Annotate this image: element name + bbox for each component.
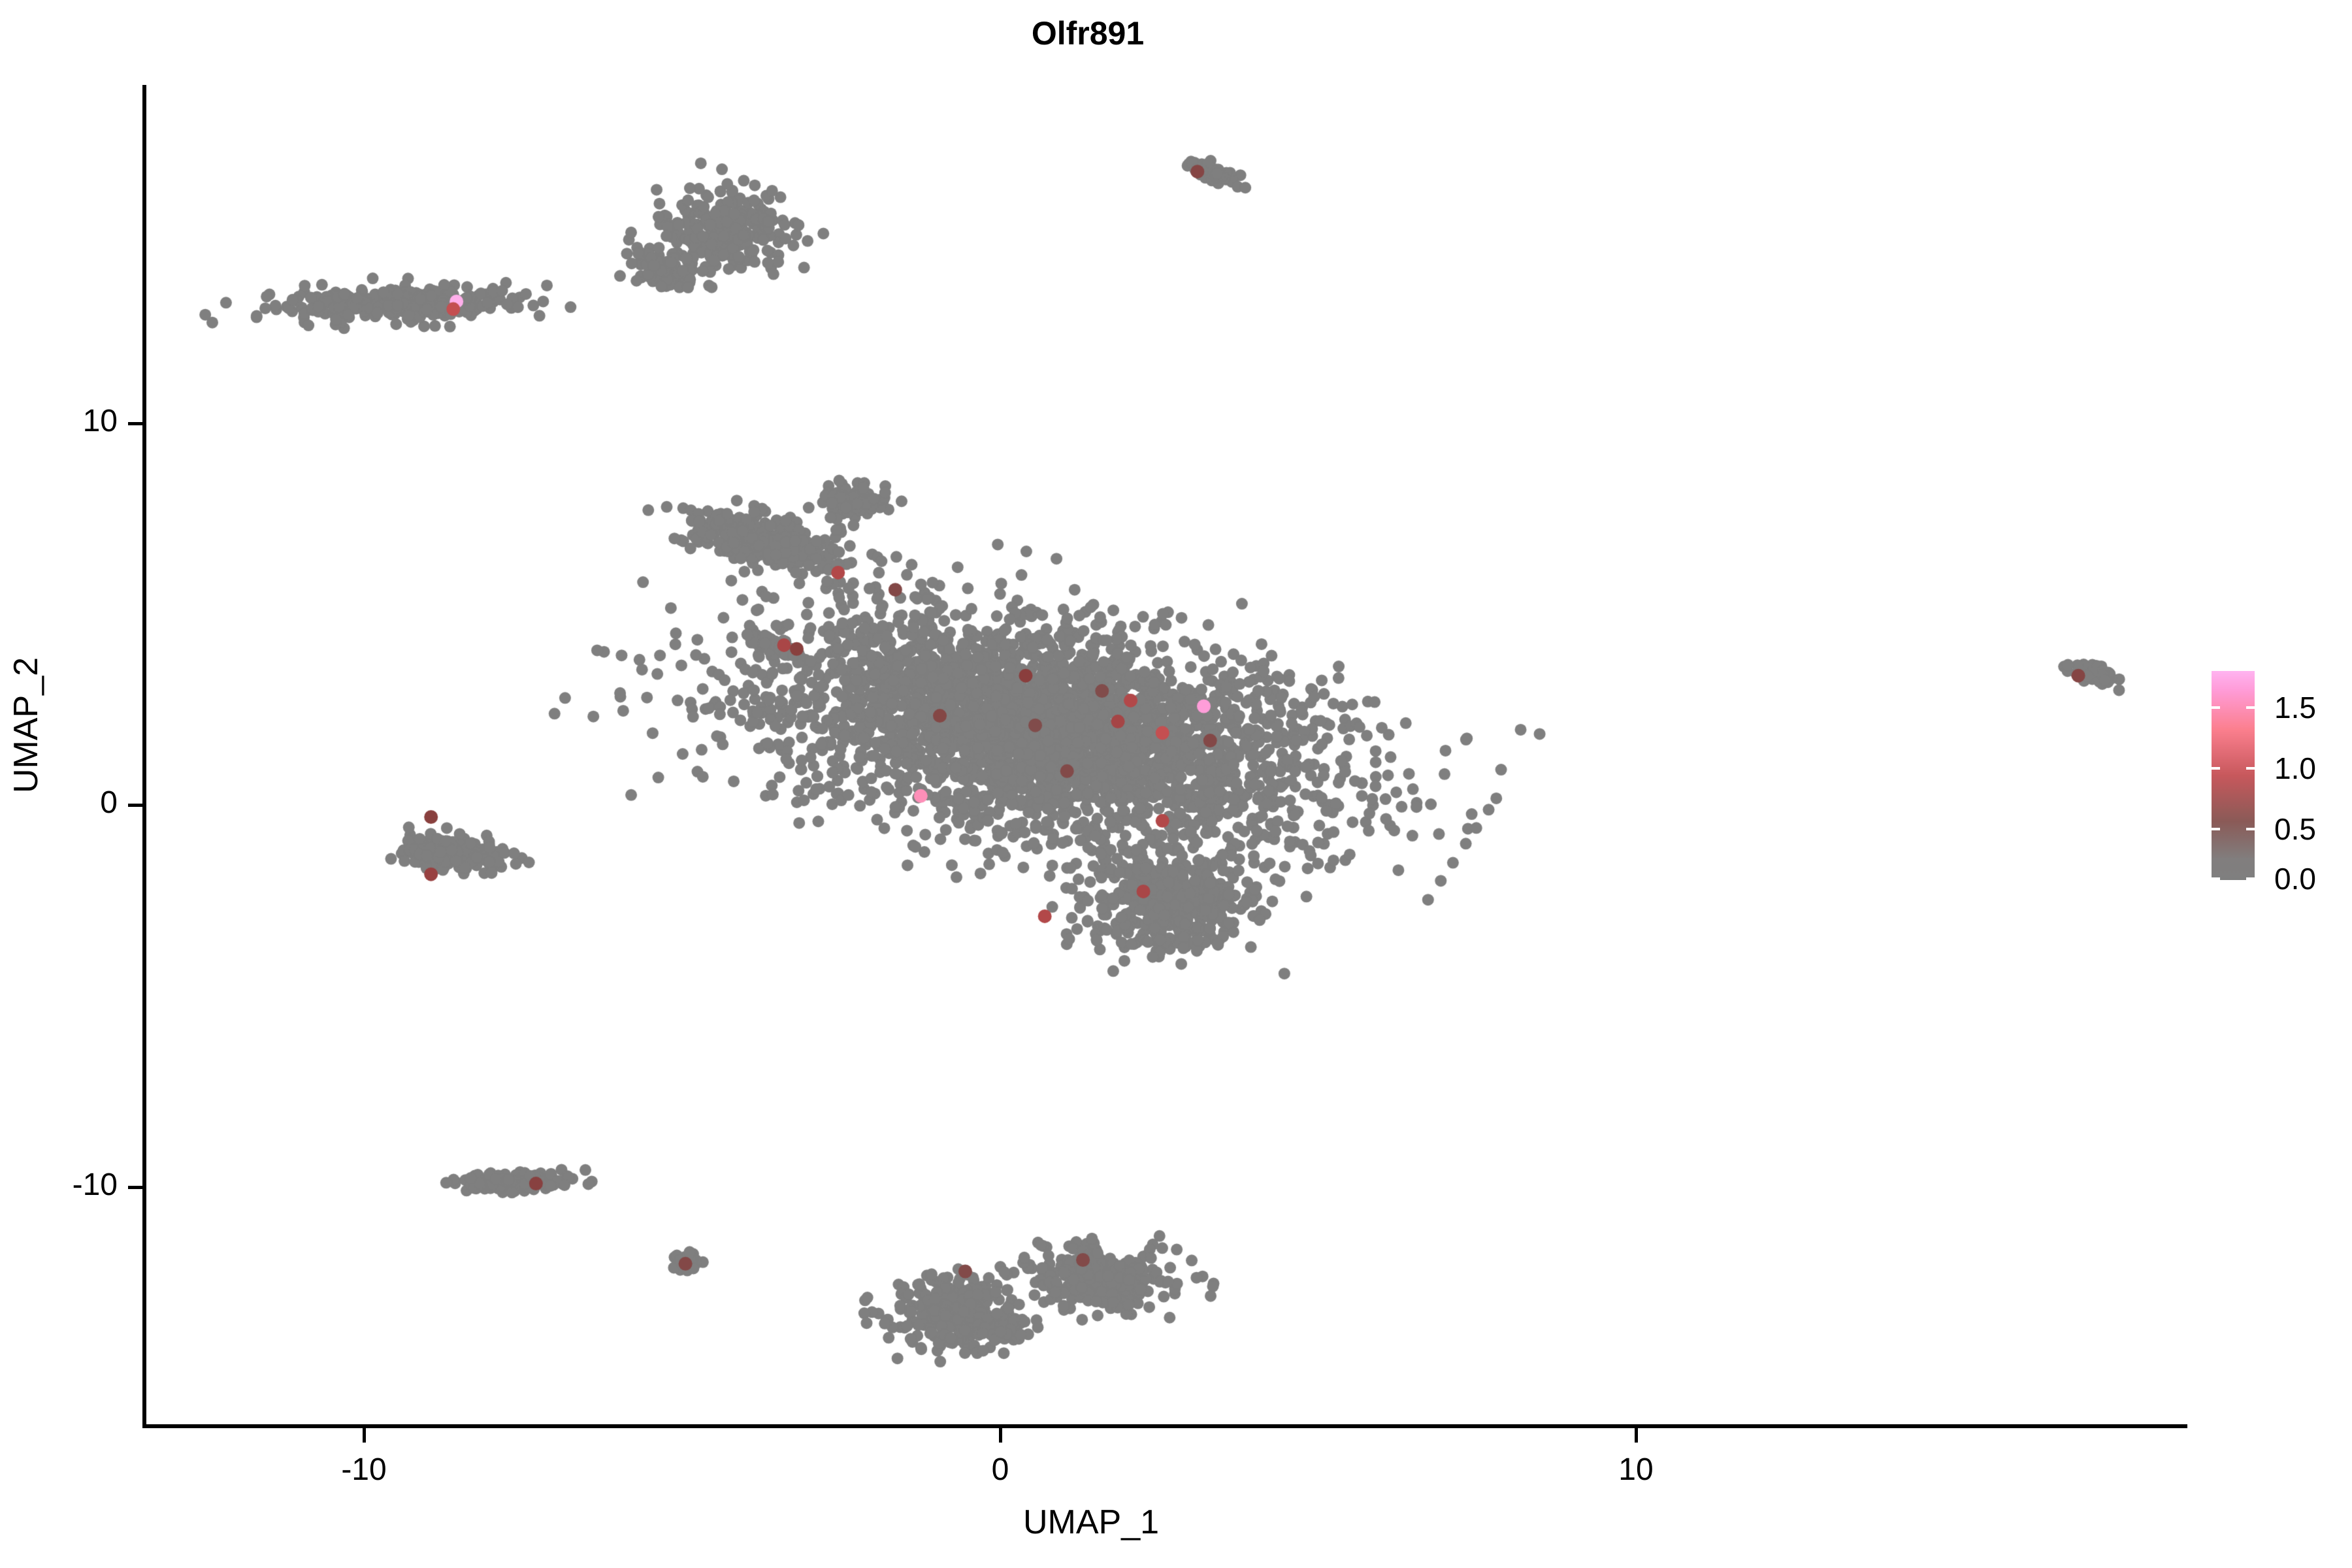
colorbar-label-1-0: 1.0 <box>2274 751 2316 786</box>
x-tick-mark-10 <box>1635 1428 1638 1443</box>
x-axis-line <box>142 1424 2187 1428</box>
y-tick-mark-0 <box>128 804 142 807</box>
y-axis-label: UMAP_2 <box>7 529 46 921</box>
plot-root: Olfr891 10 0 -10 -10 0 10 UMAP_1 UMAP_2 … <box>0 0 2352 1568</box>
x-tick-label-neg10: -10 <box>341 1452 386 1488</box>
colorbar-label-1-5: 1.5 <box>2274 690 2316 725</box>
y-tick-label-10: 10 <box>83 403 118 439</box>
x-tick-label-0: 0 <box>992 1452 1009 1488</box>
page-title: Olfr891 <box>0 14 2176 52</box>
y-axis-line <box>142 85 146 1428</box>
colorbar-gradient <box>2212 671 2255 880</box>
x-tick-label-10: 10 <box>1618 1452 1653 1488</box>
scatter-canvas <box>0 0 2352 1568</box>
colorbar-label-0-5: 0.5 <box>2274 811 2316 847</box>
x-tick-mark-neg10 <box>363 1428 366 1443</box>
colorbar-legend: 1.5 1.0 0.5 0.0 <box>2212 671 2257 880</box>
x-tick-mark-0 <box>999 1428 1002 1443</box>
colorbar-label-0-0: 0.0 <box>2274 861 2316 896</box>
y-tick-label-neg10: -10 <box>73 1167 118 1203</box>
y-tick-mark-10 <box>128 422 142 425</box>
x-axis-label: UMAP_1 <box>0 1503 2182 1542</box>
y-tick-label-0: 0 <box>100 785 118 821</box>
y-tick-mark-neg10 <box>128 1186 142 1189</box>
